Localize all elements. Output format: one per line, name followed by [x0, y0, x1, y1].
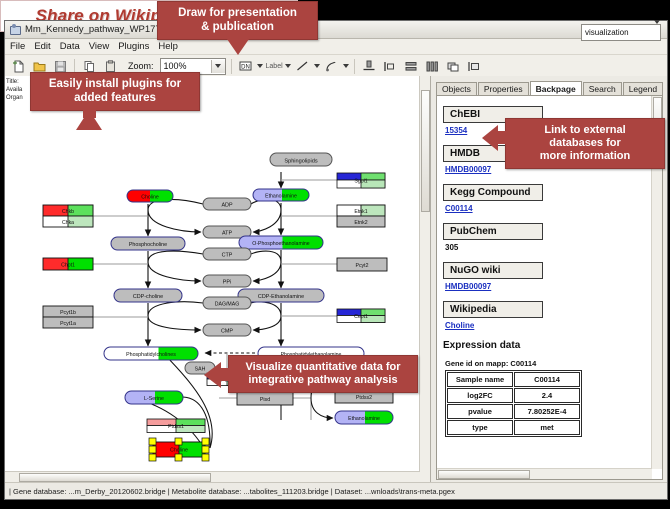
node-chka[interactable]: Chka: [43, 216, 93, 227]
send-to-back-icon[interactable]: [465, 57, 483, 75]
callout-links-line2: databases for: [509, 137, 661, 150]
table-row: Sample name C00114: [447, 372, 580, 387]
wikipedia-link[interactable]: Choline: [445, 321, 652, 330]
new-document-icon[interactable]: [9, 57, 27, 75]
callout-plugins-line1: Easily install plugins for: [33, 78, 197, 92]
kegg-compound-link[interactable]: C00114: [445, 204, 652, 213]
node-sgpl1[interactable]: Sgpl1: [337, 173, 385, 188]
svg-text:Pcyt1a: Pcyt1a: [60, 321, 76, 327]
node-phosphatidylcholines[interactable]: Phosphatidylcholines: [104, 347, 198, 360]
type-value: met: [514, 420, 580, 435]
svg-text:Choline: Choline: [170, 448, 188, 454]
node-cmp[interactable]: CMP: [203, 324, 251, 336]
callout-links-arrow-stem: [497, 131, 507, 144]
menu-item-file[interactable]: File: [10, 41, 25, 52]
node-ethanolamine-top[interactable]: Ethanolamine: [253, 189, 309, 201]
app-icon: [9, 24, 20, 35]
svg-text:ADP: ADP: [221, 202, 232, 208]
pvalue-key: pvalue: [447, 404, 513, 419]
callout-draw-line1: Draw for presentation: [160, 7, 315, 21]
toolbar-separator-3: [354, 59, 355, 74]
svg-text:ATP: ATP: [222, 230, 232, 236]
node-cdp-ethanolamine[interactable]: CDP-Ethanolamine: [238, 289, 324, 302]
table-row: log2FC 2.4: [447, 388, 580, 403]
svg-text:DN: DN: [241, 65, 250, 71]
svg-text:Ethanolamine: Ethanolamine: [348, 416, 380, 422]
callout-draw-for-presentation: Draw for presentation & publication: [157, 1, 318, 40]
node-ethanolamine-right[interactable]: Ethanolamine: [335, 411, 393, 424]
svg-text:CTP: CTP: [222, 252, 233, 258]
interaction-chevron-down-icon[interactable]: [343, 64, 349, 68]
label-chevron-down-icon[interactable]: [285, 64, 291, 68]
label-dropdown-label: Label: [266, 63, 283, 70]
callout-plugins-arrow-icon: [76, 110, 102, 130]
datanode-icon[interactable]: DN: [237, 57, 255, 75]
callout-visualize-line2: integrative pathway analysis: [232, 374, 414, 387]
zoom-label: Zoom:: [128, 61, 154, 71]
toolbar-separator-2: [231, 59, 232, 74]
table-row: pvalue 7.80252E-4: [447, 404, 580, 419]
svg-text:Phosphatidylcholines: Phosphatidylcholines: [126, 352, 176, 358]
svg-text:Sphingolipids: Sphingolipids: [284, 159, 317, 165]
svg-text:Etnk2: Etnk2: [354, 220, 367, 226]
tab-properties[interactable]: Properties: [478, 82, 529, 95]
callout-plugins-line2: added features: [33, 92, 197, 106]
node-cdp-choline[interactable]: CDP-choline: [114, 289, 182, 302]
interaction-dropdown[interactable]: [323, 57, 349, 75]
svg-text:Chkb: Chkb: [62, 209, 74, 215]
node-ppi[interactable]: PPi: [203, 275, 251, 287]
node-pisd[interactable]: Pisd: [237, 392, 293, 405]
label-dropdown[interactable]: Label: [266, 63, 291, 70]
align-left-icon[interactable]: [381, 57, 399, 75]
gene-id-on-mapp-label: Gene id on mapp: C00114: [445, 359, 652, 368]
log2fc-value: 2.4: [514, 388, 580, 403]
align-top-icon[interactable]: [360, 57, 378, 75]
menu-item-data[interactable]: Data: [60, 41, 80, 52]
svg-text:O-Phosphoethanolamine: O-Phosphoethanolamine: [252, 241, 310, 247]
pathway-canvas[interactable]: Title: Availa Organ: [5, 76, 431, 482]
menu-bar: File Edit Data View Plugins Help: [5, 39, 667, 55]
menu-item-edit[interactable]: Edit: [34, 41, 50, 52]
screenshot-root: Mm_Kennedy_pathway_WP1771_45176.gpml Fil…: [0, 0, 670, 509]
visualization-combobox[interactable]: visualization: [581, 24, 661, 41]
datanode-chevron-down-icon[interactable]: [257, 64, 263, 68]
node-pcyt1b[interactable]: Pcyt1b: [43, 306, 93, 317]
expression-data-table: Sample name C00114 log2FC 2.4 pvalue 7.8…: [445, 370, 582, 437]
svg-text:CMP: CMP: [221, 328, 233, 334]
callout-draw-line2: & publication: [160, 21, 315, 35]
line-chevron-down-icon[interactable]: [314, 64, 320, 68]
node-dagmag[interactable]: DAG/MAG: [203, 297, 251, 309]
callout-draw-arrow-icon: [227, 39, 249, 55]
svg-text:Pcyt1b: Pcyt1b: [60, 310, 76, 316]
canvas-hscroll-thumb[interactable]: [19, 473, 211, 482]
menu-item-help[interactable]: Help: [158, 41, 178, 52]
callout-links-arrow-icon: [482, 125, 498, 151]
kegg-compound-heading: Kegg Compound: [443, 184, 543, 201]
callout-visualize-quantitative-data: Visualize quantitative data for integrat…: [228, 355, 418, 393]
interaction-arc-icon[interactable]: [323, 57, 341, 75]
svg-text:CDP-Ethanolamine: CDP-Ethanolamine: [258, 294, 304, 300]
sample-name-value: C00114: [514, 372, 580, 387]
node-adp[interactable]: ADP: [203, 198, 251, 210]
side-panel-tabs: Objects Properties Backpage Search Legen…: [436, 80, 663, 96]
canvas-horizontal-scrollbar[interactable]: [5, 471, 420, 482]
tab-legend[interactable]: Legend: [623, 82, 663, 95]
visualization-chevron-down-icon[interactable]: [654, 24, 660, 42]
backpage-horizontal-scrollbar[interactable]: [437, 468, 652, 479]
pubchem-heading: PubChem: [443, 223, 543, 240]
bring-to-front-icon[interactable]: [444, 57, 462, 75]
sample-name-key: Sample name: [447, 372, 513, 387]
svg-text:Choline: Choline: [141, 195, 159, 201]
line-dropdown[interactable]: [294, 57, 320, 75]
node-etnk1[interactable]: Etnk1: [337, 205, 385, 216]
callout-links-line3: more information: [509, 150, 661, 163]
node-o-phosphoethanolamine[interactable]: O-Phosphoethanolamine: [239, 236, 323, 249]
datanode-dropdown[interactable]: DN: [237, 57, 263, 75]
stack-vertical-icon[interactable]: [402, 57, 420, 75]
line-icon[interactable]: [294, 57, 312, 75]
node-l-serine-left[interactable]: L-Serine: [125, 391, 183, 404]
table-row: type met: [447, 420, 580, 435]
svg-text:Pisd: Pisd: [260, 397, 270, 403]
svg-text:Pcyt2: Pcyt2: [356, 263, 369, 269]
node-phosphocholine[interactable]: Phosphocholine: [111, 237, 185, 250]
pubchem-value: 305: [445, 243, 652, 252]
status-bar: | Gene database: ...m_Derby_20120602.bri…: [5, 482, 667, 499]
wikipedia-heading: Wikipedia: [443, 301, 543, 318]
svg-text:Chka: Chka: [62, 220, 74, 226]
node-pcyt1a[interactable]: Pcyt1a: [43, 317, 93, 328]
pvalue-value: 7.80252E-4: [514, 404, 580, 419]
canvas-vscroll-thumb[interactable]: [421, 90, 430, 212]
svg-text:Ptdss1: Ptdss1: [168, 424, 184, 430]
svg-text:L-Serine: L-Serine: [144, 396, 164, 402]
status-bar-text: | Gene database: ...m_Derby_20120602.bri…: [5, 487, 455, 496]
svg-text:Ptdss2: Ptdss2: [356, 395, 372, 401]
node-ctp[interactable]: CTP: [203, 248, 251, 260]
svg-text:Phosphocholine: Phosphocholine: [129, 242, 167, 248]
svg-text:DAG/MAG: DAG/MAG: [215, 301, 240, 307]
pathway-diagram[interactable]: Sphingolipids Sgpl1 Choline: [5, 76, 430, 482]
svg-text:Sgpl1: Sgpl1: [354, 179, 367, 185]
svg-text:Etnk1: Etnk1: [354, 209, 367, 215]
node-etnk2[interactable]: Etnk2: [337, 216, 385, 227]
tab-search[interactable]: Search: [583, 82, 622, 95]
node-sphingolipids[interactable]: Sphingolipids: [270, 153, 332, 166]
expression-data-heading: Expression data: [443, 340, 652, 351]
visualization-value: visualization: [582, 28, 629, 37]
svg-text:Chpt1: Chpt1: [61, 262, 75, 268]
nugo-wiki-link[interactable]: HMDB00097: [445, 282, 652, 291]
callout-visualize-arrow-icon: [204, 362, 221, 388]
node-chkb[interactable]: Chkb: [43, 205, 93, 216]
svg-text:Ethanolamine: Ethanolamine: [265, 194, 297, 200]
callout-visualize-line1: Visualize quantitative data for: [232, 361, 414, 374]
window-title-bar: Mm_Kennedy_pathway_WP1771_45176.gpml: [5, 21, 667, 39]
zoom-chevron-down-icon[interactable]: [211, 60, 225, 73]
svg-text:CDP-choline: CDP-choline: [133, 294, 163, 300]
node-chpt1[interactable]: Chpt1: [43, 258, 93, 270]
canvas-vertical-scrollbar[interactable]: [419, 76, 430, 482]
backpage-hscroll-thumb[interactable]: [438, 470, 530, 479]
svg-text:PPi: PPi: [223, 279, 231, 285]
node-choline-top[interactable]: Choline: [127, 190, 173, 202]
nugo-wiki-heading: NuGO wiki: [443, 262, 543, 279]
callout-visualize-arrow-stem: [220, 368, 230, 381]
distribute-horizontal-icon[interactable]: [423, 57, 441, 75]
callout-links-line1: Link to external: [509, 124, 661, 137]
callout-external-databases: Link to external databases for more info…: [505, 118, 665, 169]
type-key: type: [447, 420, 513, 435]
tab-objects[interactable]: Objects: [436, 82, 477, 95]
node-cept1[interactable]: Cept1: [337, 309, 385, 323]
callout-install-plugins: Easily install plugins for added feature…: [30, 72, 200, 111]
tab-backpage[interactable]: Backpage: [530, 81, 582, 96]
svg-text:Cept1: Cept1: [354, 314, 368, 320]
menu-item-plugins[interactable]: Plugins: [118, 41, 149, 52]
zoom-value: 100%: [161, 61, 187, 71]
log2fc-key: log2FC: [447, 388, 513, 403]
node-pcyt2[interactable]: Pcyt2: [337, 258, 387, 271]
menu-item-view[interactable]: View: [89, 41, 109, 52]
node-ptdss1[interactable]: Ptdss1: [147, 419, 205, 433]
